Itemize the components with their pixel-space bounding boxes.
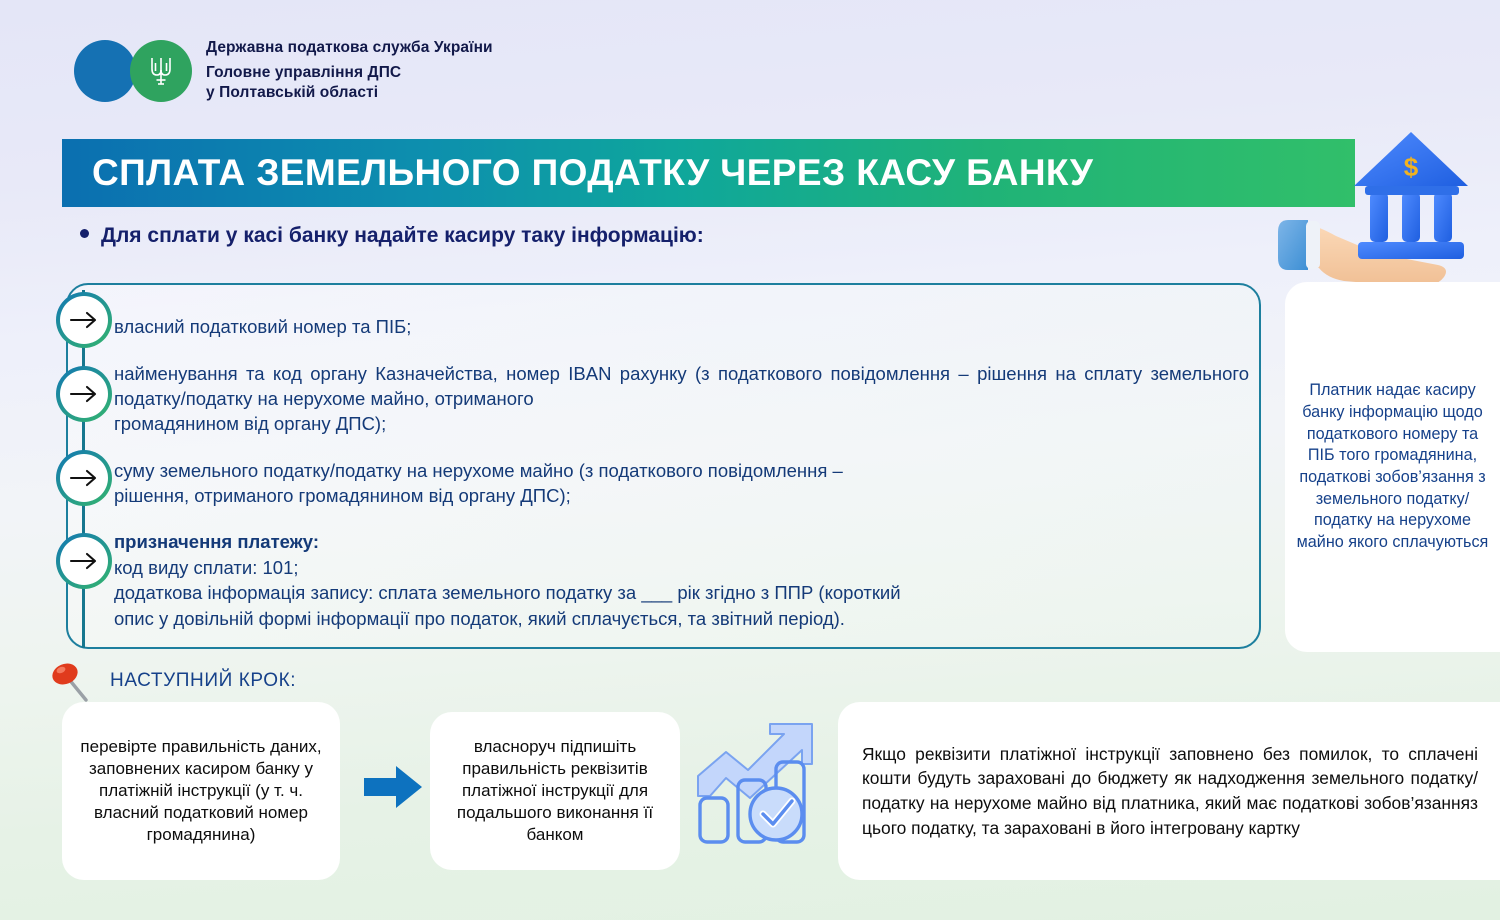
requirements-panel: власний податковий номер та ПІБ; наймену… [66, 283, 1261, 649]
list-item: власноруч підпишіть правильність реквізи… [430, 712, 680, 870]
title-banner: СПЛАТА ЗЕМЕЛЬНОГО ПОДАТКУ ЧЕРЕЗ КАСУ БАН… [62, 139, 1355, 207]
step-4-line-3: опис у довільній формі інформації про по… [114, 606, 1249, 632]
org-name-block: Державна податкова служба України Головн… [206, 38, 493, 104]
next-step-label: НАСТУПНИЙ КРОК: [110, 670, 296, 692]
step-1-text: власний податковий номер та ПІБ; [114, 315, 1249, 340]
step-3-marker [56, 450, 112, 506]
arrow-right-icon [69, 311, 99, 329]
side-note-card: Платник надає касиру банку інформацію що… [1285, 282, 1500, 652]
card-verify-data-text: перевірте правильність даних, заповнених… [74, 736, 328, 846]
step-4-line-2: додаткова інформація запису: сплата земе… [114, 580, 1249, 606]
org-line-1: Державна податкова служба України [206, 38, 493, 59]
logo-marks [74, 40, 192, 102]
list-item: призначення платежу: код виду сплати: 10… [114, 531, 1249, 632]
card-sign-text: власноруч підпишіть правильність реквізи… [442, 736, 668, 846]
lead-text: Для сплати у касі банку надайте касиру т… [101, 224, 704, 248]
list-item: перевірте правильність даних, заповнених… [62, 702, 340, 880]
svg-text:$: $ [1404, 152, 1419, 182]
step-3-text: суму земельного податку/податку на нерух… [114, 459, 1249, 484]
arrow-right-icon [69, 552, 99, 570]
requirements-list: власний податковий номер та ПІБ; наймену… [114, 301, 1249, 645]
step-1-marker [56, 292, 112, 348]
list-item: Якщо реквізити платіжної інструкції запо… [838, 702, 1500, 880]
step-4-marker [56, 533, 112, 589]
org-line-2: Головне управління ДПС [206, 63, 493, 84]
step-4-title: призначення платежу: [114, 531, 1249, 553]
step-3-text-tail: рішення, отриманого громадянином від орг… [114, 484, 1249, 509]
list-item: суму земельного податку/податку на нерух… [114, 459, 1249, 509]
list-item: власний податковий номер та ПІБ; [114, 315, 1249, 340]
page-title: СПЛАТА ЗЕМЕЛЬНОГО ПОДАТКУ ЧЕРЕЗ КАСУ БАН… [92, 152, 1093, 194]
ukraine-trident-icon [130, 40, 192, 102]
growth-chart-check-icon [692, 718, 822, 846]
brand-header: Державна податкова служба України Головн… [74, 38, 493, 104]
card-result-text: Якщо реквізити платіжної інструкції запо… [862, 742, 1478, 841]
arrow-right-icon [69, 385, 99, 403]
bullet-dot-icon [80, 229, 89, 238]
arrow-right-icon [69, 469, 99, 487]
step-2-text: найменування та код органу Казначейства,… [114, 362, 1249, 412]
step-2-marker [56, 366, 112, 422]
step-4-line-1: код виду сплати: 101; [114, 555, 1249, 581]
list-item: найменування та код органу Казначейства,… [114, 362, 1249, 437]
blue-arrow-right-icon [362, 763, 424, 811]
org-line-3: у Полтавській області [206, 83, 493, 104]
lead-bullet: Для сплати у касі банку надайте касиру т… [80, 224, 704, 248]
red-pushpin-icon [48, 660, 94, 706]
side-note-text: Платник надає касиру банку інформацію що… [1295, 380, 1490, 554]
step-2-text-tail: громадянином від органу ДПС); [114, 412, 1249, 437]
blue-circle-icon [74, 40, 136, 102]
